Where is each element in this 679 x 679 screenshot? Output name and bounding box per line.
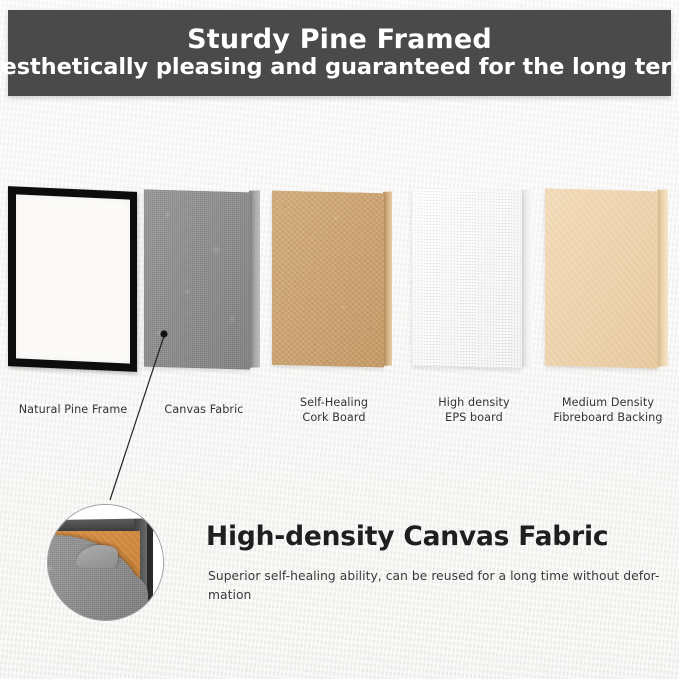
feature-title: High-density Canvas Fabric — [206, 521, 608, 552]
layer-fibreboard-backing — [545, 190, 658, 367]
fibreboard-edge — [657, 189, 668, 366]
layer-label-fibreboard-backing: Medium Density Fibreboard Backing — [540, 395, 676, 426]
layer-canvas-fabric — [144, 191, 250, 368]
feature-description: Superior self-healing ability, can be re… — [208, 567, 668, 605]
layer-label-canvas-fabric: Canvas Fabric — [144, 402, 264, 417]
fibreboard-icon — [545, 189, 658, 369]
product-infographic: Sturdy Pine Framed Aesthetically pleasin… — [0, 0, 679, 679]
header-banner: Sturdy Pine Framed Aesthetically pleasin… — [8, 10, 671, 96]
magnified-corner-detail-icon — [47, 504, 164, 621]
layer-label-cork-board: Self-Healing Cork Board — [272, 395, 396, 426]
layer-eps-board — [412, 190, 522, 367]
eps-board-edge — [521, 189, 533, 367]
layer-label-eps-board: High density EPS board — [412, 395, 536, 426]
fabric-sheet-icon — [144, 190, 250, 370]
banner-title: Sturdy Pine Framed — [187, 26, 492, 54]
cork-board-icon — [272, 191, 384, 368]
banner-subtitle: Aesthetically pleasing and guaranteed fo… — [0, 56, 679, 80]
detail-canvas-base — [47, 567, 148, 621]
layer-natural-pine-frame — [8, 189, 137, 369]
layer-label-natural-pine-frame: Natural Pine Frame — [0, 402, 146, 417]
frame-opening — [16, 194, 130, 363]
cork-board-edge — [383, 192, 392, 366]
eps-board-icon — [412, 188, 522, 368]
canvas-fabric-edge — [249, 190, 260, 367]
layer-cork-board — [272, 192, 384, 366]
